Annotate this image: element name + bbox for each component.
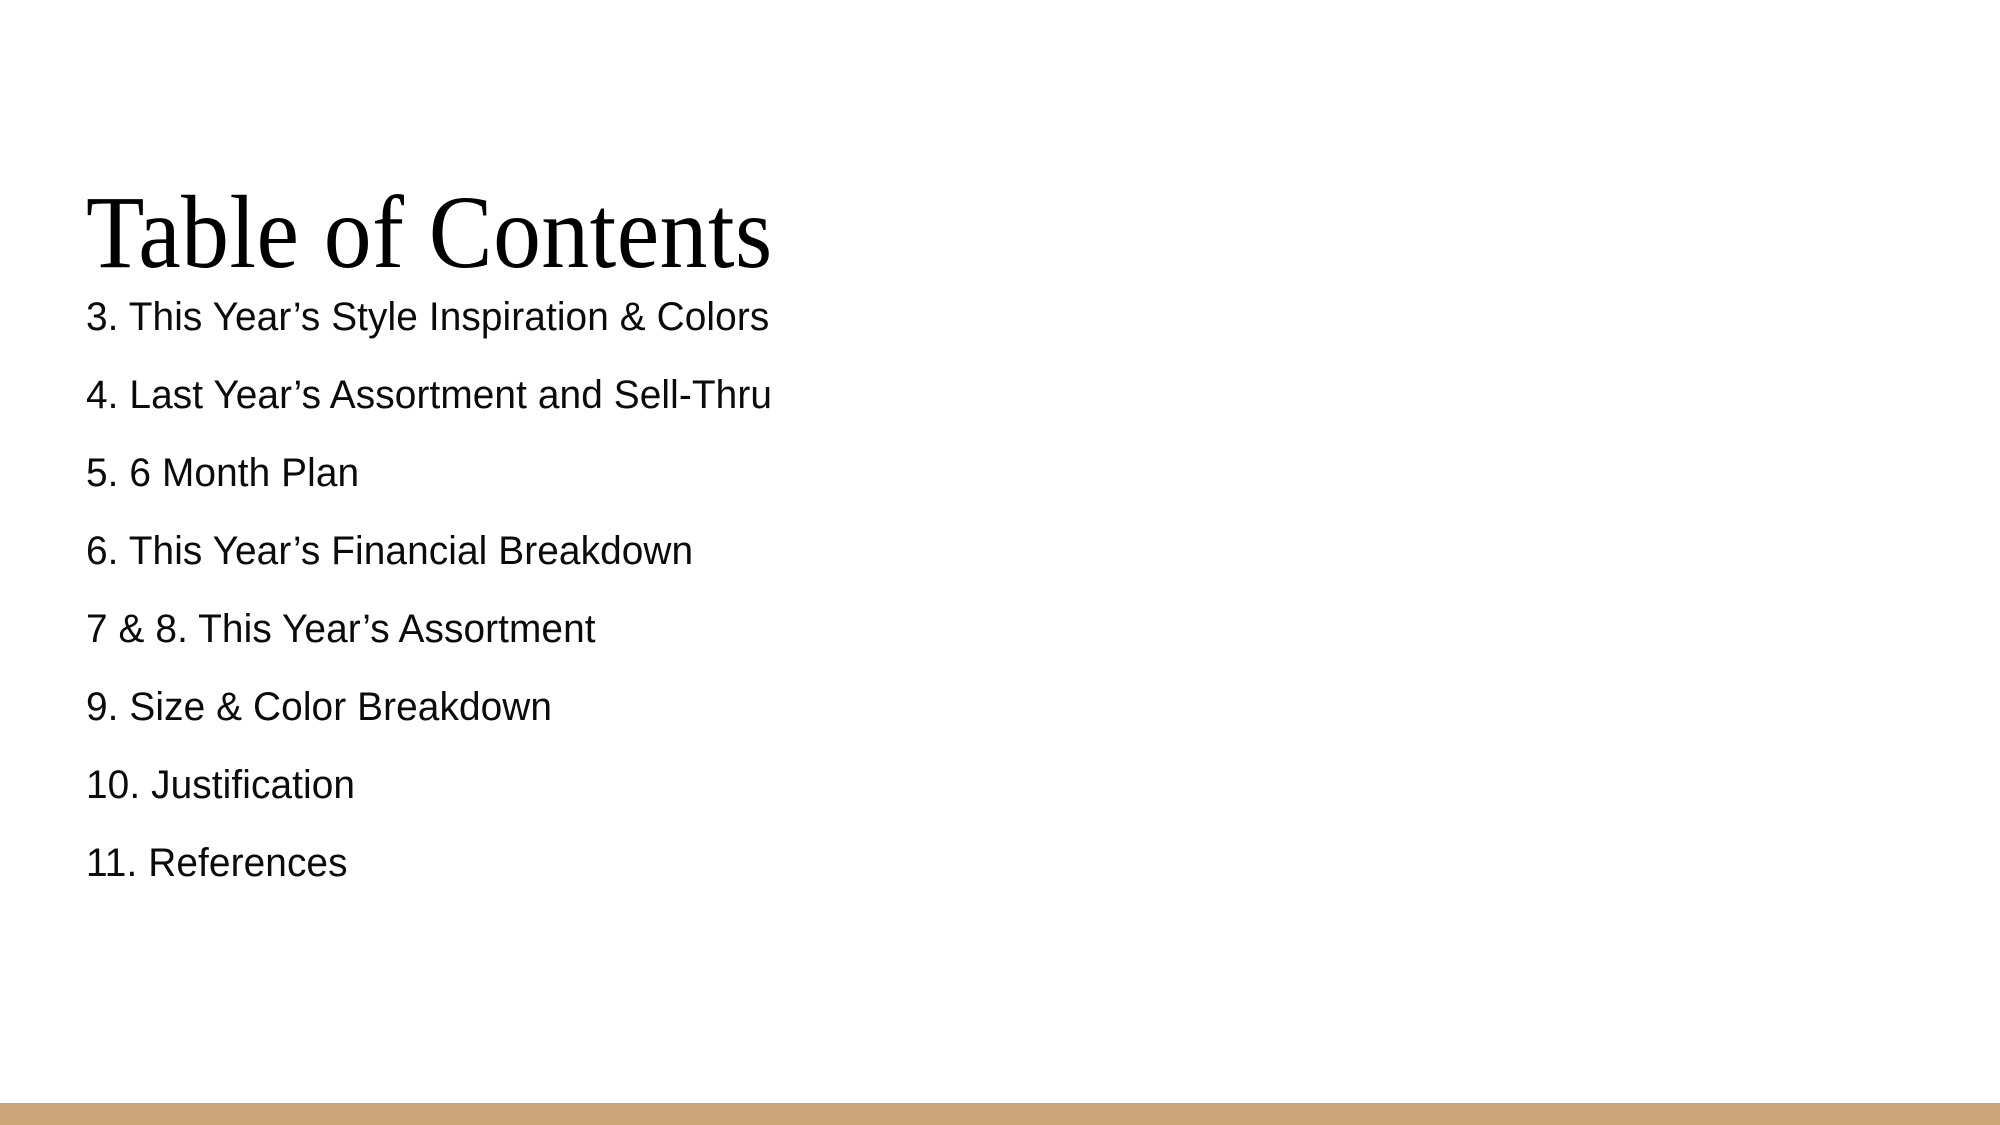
list-item[interactable]: 10. Justification: [86, 746, 1347, 824]
page-title: Table of Contents: [86, 178, 773, 287]
slide-canvas: Table of Contents 3. This Year’s Style I…: [0, 0, 2000, 1125]
footer-accent-bar: [0, 1103, 2000, 1125]
list-item[interactable]: 7 & 8. This Year’s Assortment: [86, 590, 1347, 668]
list-item[interactable]: 9. Size & Color Breakdown: [86, 668, 1347, 746]
list-item[interactable]: 6. This Year’s Financial Breakdown: [86, 512, 1347, 590]
list-item[interactable]: 11. References: [86, 824, 1347, 902]
table-of-contents-list: 3. This Year’s Style Inspiration & Color…: [86, 278, 1386, 902]
list-item[interactable]: 5. 6 Month Plan: [86, 434, 1347, 512]
list-item[interactable]: 3. This Year’s Style Inspiration & Color…: [86, 278, 1347, 356]
list-item[interactable]: 4. Last Year’s Assortment and Sell-Thru: [86, 356, 1347, 434]
